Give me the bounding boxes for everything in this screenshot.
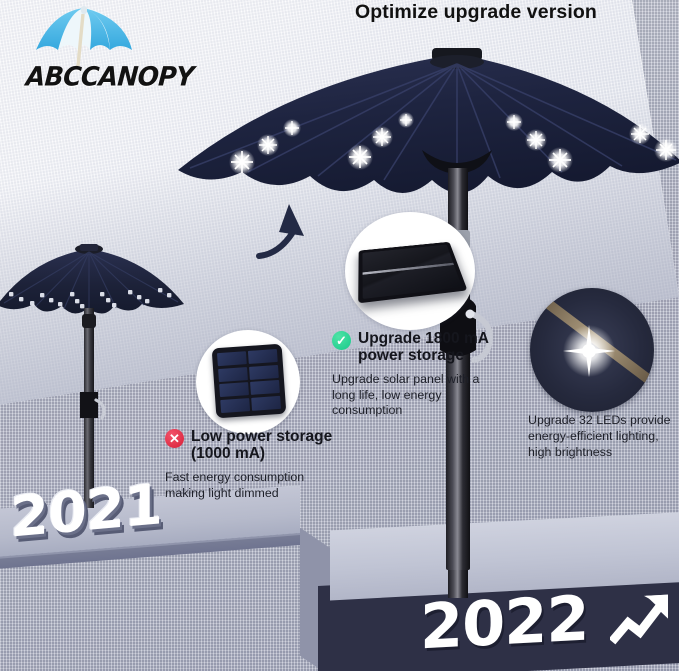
infographic-canvas: ✓ Upgrade 1800 mA power storage Upgrade … [0, 0, 679, 671]
growth-arrow-icon [610, 590, 672, 649]
callout-low-power: ✕ Low power storage (1000 mA) Fast energ… [165, 428, 333, 501]
page-title: Optimize upgrade version [355, 2, 675, 23]
year-label-2021: 2021 [10, 477, 162, 546]
callout-upgrade-power-body: Upgrade solar panel with a long life, lo… [332, 372, 504, 420]
solar-panel-large-icon [345, 212, 475, 330]
callout-low-power-body: Fast energy consumption making light dim… [165, 470, 333, 502]
led-star-burst [562, 324, 616, 378]
solar-panel-small-icon [196, 330, 300, 434]
curved-up-arrow-icon [255, 190, 335, 265]
callout-led: Upgrade 32 LEDs provide energy-efficient… [528, 412, 679, 460]
cross-circle-icon: ✕ [165, 429, 184, 448]
callout-upgrade-power-title: Upgrade 1800 mA power storage [358, 330, 504, 365]
callout-upgrade-power: ✓ Upgrade 1800 mA power storage Upgrade … [332, 330, 504, 419]
brand-name: ABCCANOPY [25, 61, 195, 92]
year-label-2022: 2022 [420, 588, 589, 659]
callout-low-power-title: Low power storage (1000 mA) [191, 428, 333, 463]
umbrella-icon [28, 6, 140, 68]
check-circle-icon: ✓ [332, 331, 351, 350]
brand-logo: ABCCANOPY [22, 6, 222, 104]
solar-panel-small-cells [212, 344, 287, 419]
callout-led-body: Upgrade 32 LEDs provide energy-efficient… [528, 412, 679, 460]
solar-panel-large-body [358, 242, 467, 304]
led-closeup-icon [530, 288, 654, 412]
